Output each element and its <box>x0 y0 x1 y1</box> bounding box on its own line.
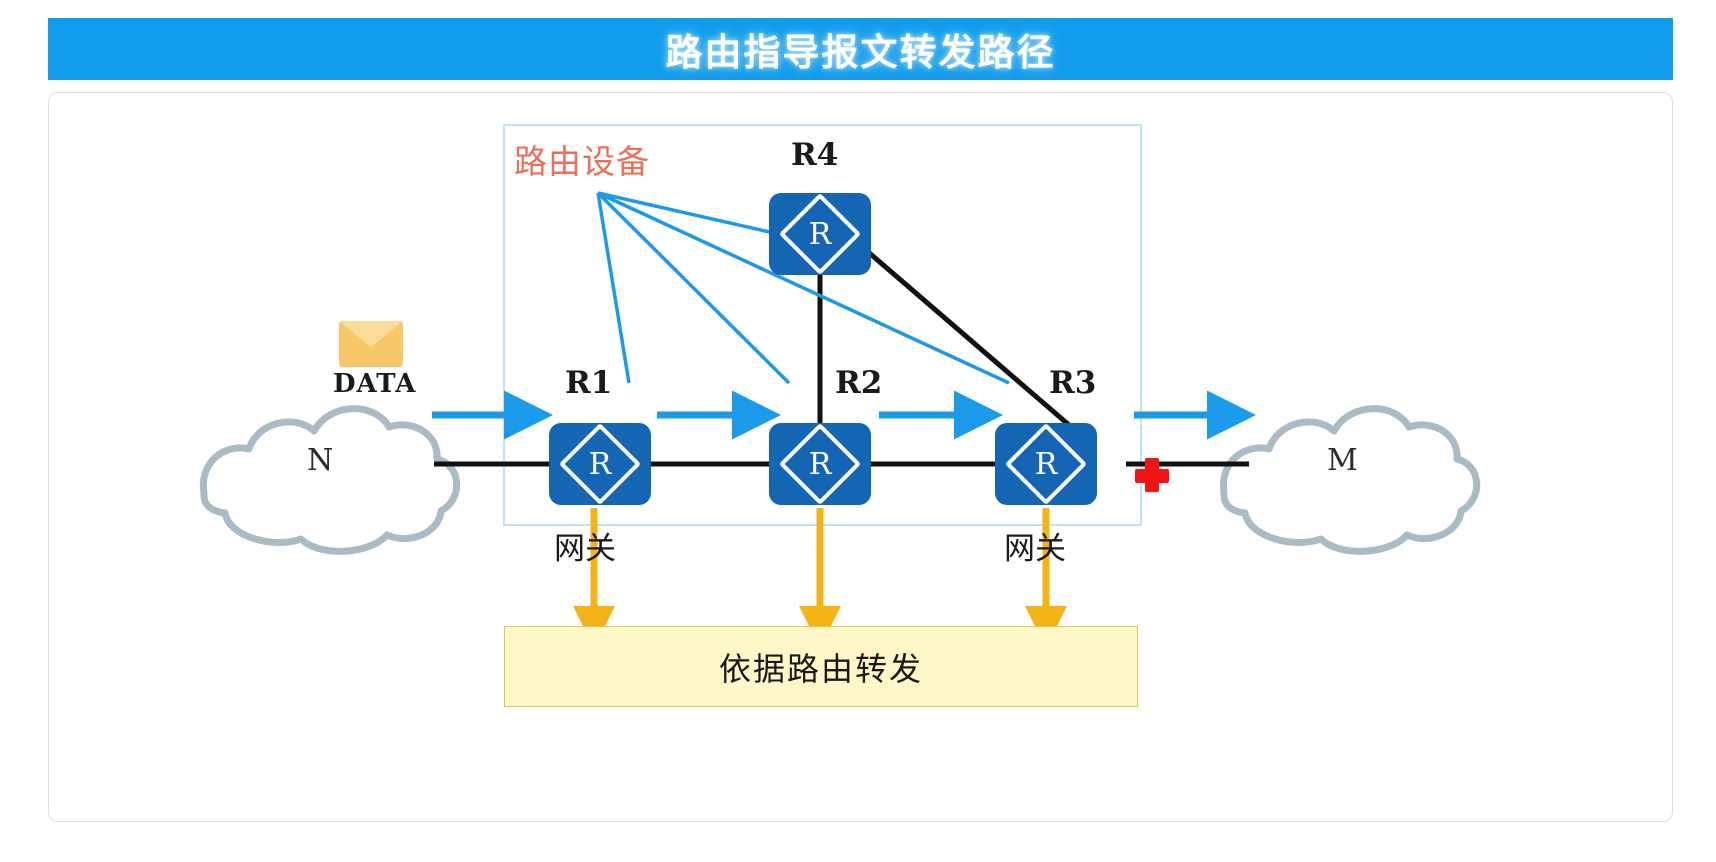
router-glyph-r3: R <box>995 423 1097 505</box>
envelope-icon <box>339 321 403 367</box>
router-glyph-r1: R <box>549 423 651 505</box>
route-lookup-arrows <box>594 508 1046 613</box>
router-label-r1: R1 <box>565 365 612 401</box>
gateway-label-r3: 网关 <box>1004 523 1066 568</box>
cloud-n <box>203 409 456 552</box>
link-r4-r3 <box>867 251 1069 425</box>
cloud-m <box>1223 409 1476 552</box>
gateway-label-r1: 网关 <box>554 523 616 568</box>
router-label-r2: R2 <box>835 365 882 401</box>
router-label-r3: R3 <box>1049 365 1096 401</box>
title-bar: 路由指导报文转发路径 <box>48 18 1673 80</box>
diagram-page: 路由指导报文转发路径 <box>0 0 1716 862</box>
router-r4[interactable]: R <box>769 193 871 275</box>
route-forwarding-note: 依据路由转发 <box>504 626 1138 707</box>
page-title: 路由指导报文转发路径 <box>666 22 1056 76</box>
route-forwarding-note-text: 依据路由转发 <box>719 644 923 690</box>
cloud-label-m: M <box>1327 443 1358 478</box>
routing-device-label: 路由设备 <box>514 135 650 183</box>
data-packet-label: DATA <box>333 369 411 399</box>
router-r1[interactable]: R <box>549 423 651 505</box>
router-glyph-r2: R <box>769 423 871 505</box>
router-r2[interactable]: R <box>769 423 871 505</box>
router-glyph-r4: R <box>769 193 871 275</box>
cloud-label-n: N <box>307 443 333 478</box>
blocked-link-marker <box>1135 458 1169 492</box>
diagram-frame: 路由设备 N M DATA R R1 R R2 R R3 R <box>48 92 1673 822</box>
router-label-r4: R4 <box>791 137 838 173</box>
router-r3[interactable]: R <box>995 423 1097 505</box>
cross-bar-vertical <box>1145 458 1159 492</box>
envelope-flap <box>339 321 403 347</box>
